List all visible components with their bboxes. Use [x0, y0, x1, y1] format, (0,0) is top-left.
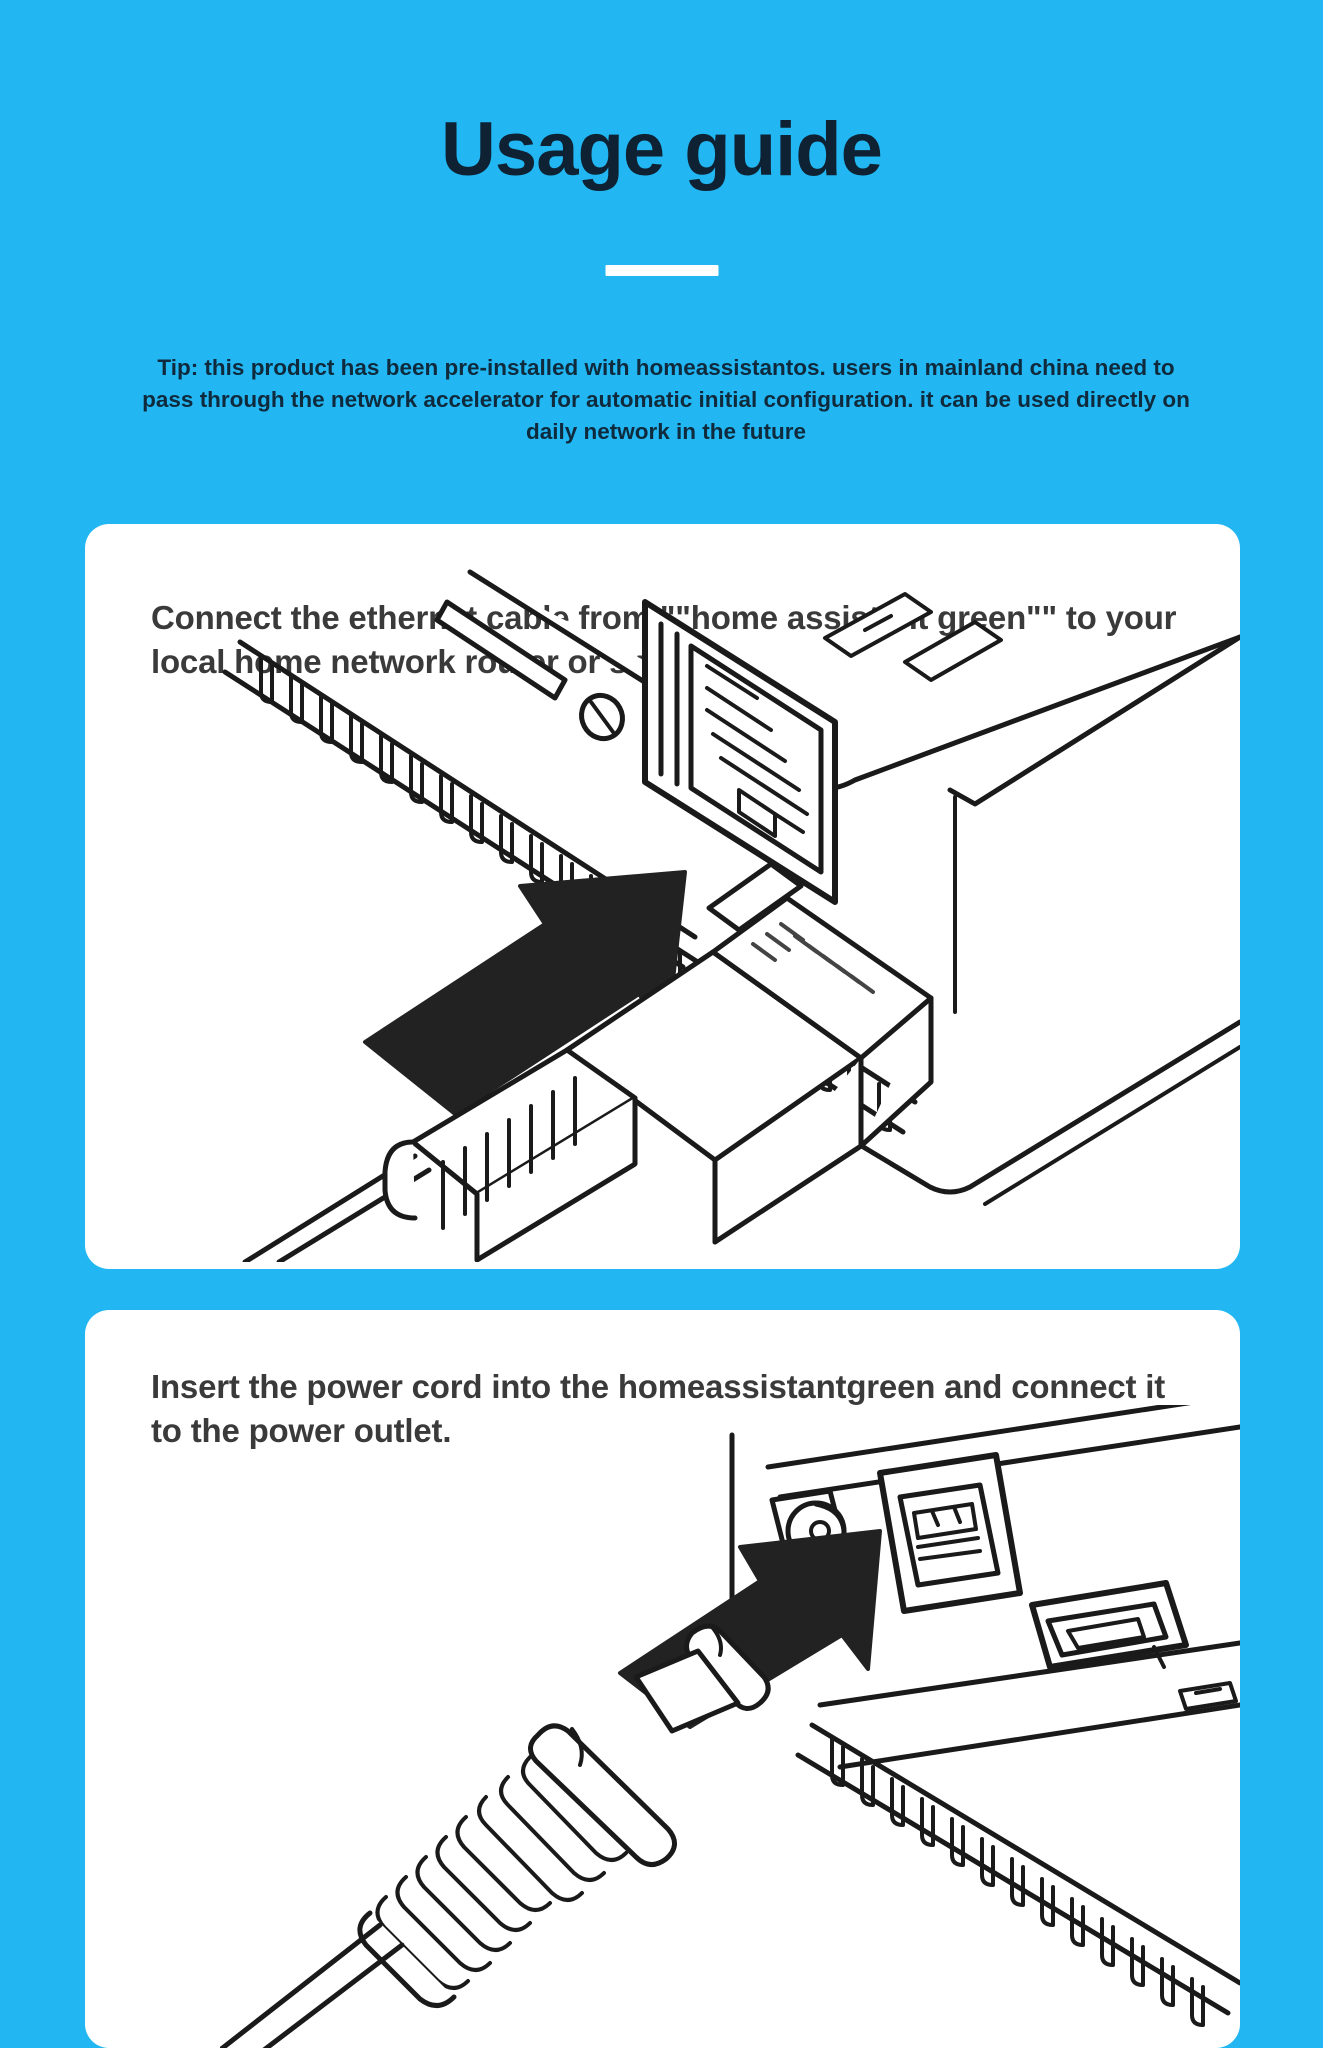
black-arrow-pointing-up-right — [365, 872, 685, 1114]
dc-barrel-plug — [220, 1626, 768, 2048]
tip-paragraph: Tip: this product has been pre-installed… — [140, 352, 1192, 448]
rj45-plug-connector — [245, 864, 931, 1262]
step-2-illustration — [220, 1405, 1240, 2048]
step-card-2: Insert the power cord into the homeassis… — [85, 1310, 1240, 2048]
usb-port — [880, 1455, 1020, 1611]
device-side-panel — [732, 1405, 1240, 1767]
cable-strain-relief-coil — [377, 1817, 550, 1988]
dc-barrel-jack — [772, 1491, 854, 1601]
ventilation-fins-top — [225, 642, 695, 967]
step-1-heading: Connect the ethernet cable from ""home a… — [151, 596, 1201, 684]
title-divider — [605, 265, 718, 276]
ventilation-fins — [798, 1725, 1240, 2025]
device-corner-mark — [1180, 1683, 1236, 1709]
black-arrow-pointing-up-right — [620, 1531, 880, 1727]
step-2-heading: Insert the power cord into the homeassis… — [151, 1365, 1201, 1453]
cable-strain-relief-boot — [413, 1050, 635, 1260]
hdmi-port — [1032, 1583, 1186, 1667]
step-card-1: Connect the ethernet cable from ""home a… — [85, 524, 1240, 1269]
ventilation-fins-bottom — [605, 910, 915, 1132]
page-title: Usage guide — [0, 112, 1323, 188]
